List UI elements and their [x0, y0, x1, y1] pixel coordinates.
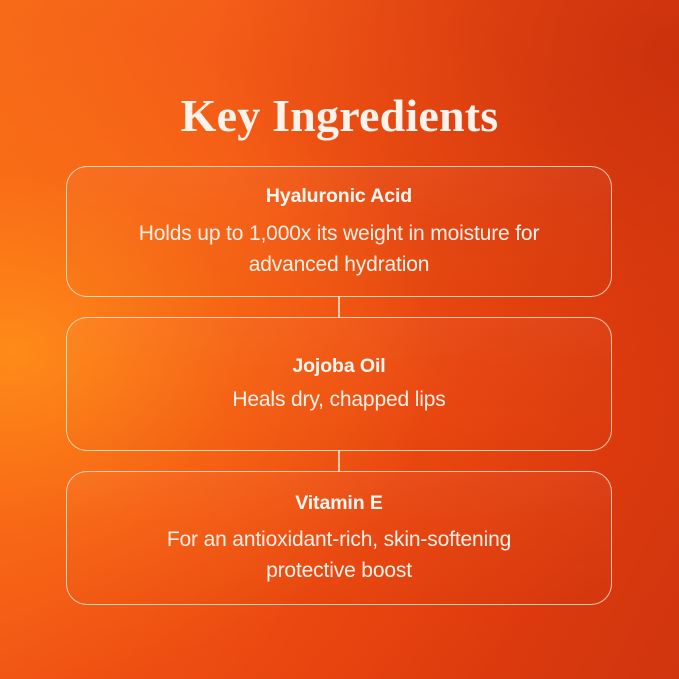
ingredient-description: Holds up to 1,000x its weight in moistur… [129, 218, 549, 280]
page-title: Key Ingredients [0, 89, 679, 143]
ingredient-card-hyaluronic-acid: Hyaluronic Acid Holds up to 1,000x its w… [66, 166, 612, 297]
connector-line-2 [66, 451, 612, 471]
ingredient-name: Vitamin E [295, 491, 383, 515]
ingredient-description: For an antioxidant-rich, skin-softening … [129, 524, 549, 586]
connector-line-1 [66, 297, 612, 317]
ingredient-card-vitamin-e: Vitamin E For an antioxidant-rich, skin-… [66, 471, 612, 605]
key-ingredients-infographic: Key Ingredients Hyaluronic Acid Holds up… [0, 0, 679, 679]
ingredient-name: Hyaluronic Acid [266, 184, 412, 208]
ingredient-card-jojoba-oil: Jojoba Oil Heals dry, chapped lips [66, 317, 612, 451]
ingredient-name: Jojoba Oil [292, 354, 385, 378]
ingredient-description: Heals dry, chapped lips [232, 384, 445, 415]
ingredient-list: Hyaluronic Acid Holds up to 1,000x its w… [66, 166, 612, 605]
